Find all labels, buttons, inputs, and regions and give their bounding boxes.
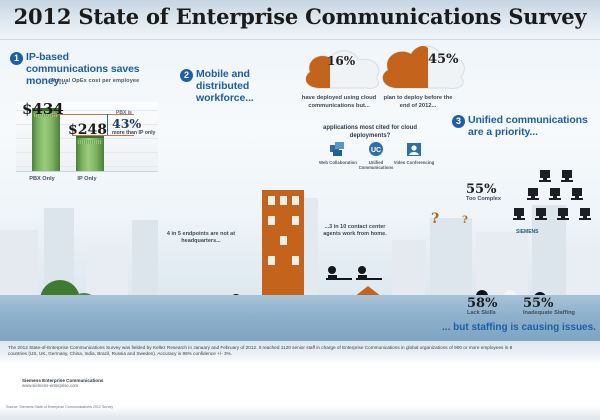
- section-3-title: Unified communications are a priority...: [468, 114, 588, 138]
- infographic-poster: 2012 State of Enterprise Communications …: [0, 0, 600, 420]
- page-title: 2012 State of Enterprise Communications …: [0, 4, 600, 29]
- section-3-badge: 3: [452, 115, 465, 128]
- question-mark-icon: ?: [431, 211, 439, 227]
- chart-caption: Annual OpEx cost per employee: [30, 78, 160, 84]
- cloud-16-percent-caption: have deployed using cloud communications…: [300, 95, 378, 110]
- section-2-title: Mobile and distributed workforce...: [196, 68, 258, 104]
- app-label: Video Conferencing: [393, 160, 435, 165]
- section-2-badge: 2: [180, 69, 193, 82]
- section-1-badge: 1: [10, 52, 23, 65]
- unified-communications-icon: UC: [355, 142, 397, 159]
- cloud-45-percent-value: 45%: [428, 52, 458, 67]
- web-collaboration-icon: [317, 142, 359, 159]
- network-pyramid-diagram: [508, 168, 596, 230]
- chart-value-pbx-only: $434: [22, 100, 64, 118]
- app-label: Unified Communications: [355, 160, 397, 170]
- chart-xtick-ip-only: IP Only: [64, 176, 110, 182]
- stat-lack-skills-value: 58%: [467, 296, 497, 311]
- callout-percentage: 43%: [112, 116, 141, 131]
- stat-too-complex-value: 55%: [466, 182, 496, 197]
- stat-lack-skills-label: Lack Skills: [467, 310, 496, 316]
- brand-url[interactable]: www.siemens-enterprise.com: [22, 383, 103, 388]
- caption-contact-center-agents: ...3 in 10 contact center agents work fr…: [322, 224, 388, 238]
- cloud-16-percent-value: 16%: [327, 54, 355, 68]
- svg-text:UC: UC: [371, 147, 381, 154]
- question-mark-icon: ?: [462, 215, 468, 226]
- methodology-text: The 2012 State-of-Enterprise Communicati…: [8, 345, 528, 358]
- chart-bar-ip-only: [76, 135, 104, 171]
- callout-arrow: [107, 114, 108, 135]
- cloud-45-percent-caption: plan to deploy before the end of 2012...: [382, 95, 454, 110]
- opex-bar-chart: Annual OpEx cost per employee $434 $248 …: [12, 78, 162, 188]
- cloud-apps-question: applications most cited for cloud deploy…: [305, 124, 435, 140]
- app-label: Web Collaboration: [317, 160, 359, 165]
- stat-inadequate-staffing-value: 55%: [523, 296, 553, 311]
- video-conferencing-icon: [393, 142, 435, 159]
- caption-endpoints: 4 in 5 endpoints are not at headquarters…: [160, 231, 242, 245]
- source-line: Source: Siemens State of Enterprise Comm…: [6, 405, 113, 409]
- stat-inadequate-staffing-label: Inadequate Staffing: [523, 310, 575, 316]
- scene-water-band: [0, 295, 600, 341]
- app-video-conferencing[interactable]: Video Conferencing: [393, 142, 435, 165]
- chart-xtick-pbx-only: PBX Only: [19, 176, 65, 182]
- siemens-wordmark-scene: SIEMENS: [516, 229, 539, 235]
- brand-block: Siemens Enterprise Communications www.si…: [22, 378, 103, 388]
- header-bar: 2012 State of Enterprise Communications …: [0, 0, 600, 40]
- callout-suffix: more than IP only: [112, 130, 155, 136]
- closing-statement: ... but staffing is causing issues.: [440, 322, 598, 333]
- stat-too-complex-label: Too Complex: [466, 196, 501, 202]
- app-web-collaboration[interactable]: Web Collaboration: [317, 142, 359, 165]
- app-unified-communications[interactable]: UC Unified Communications: [355, 142, 397, 170]
